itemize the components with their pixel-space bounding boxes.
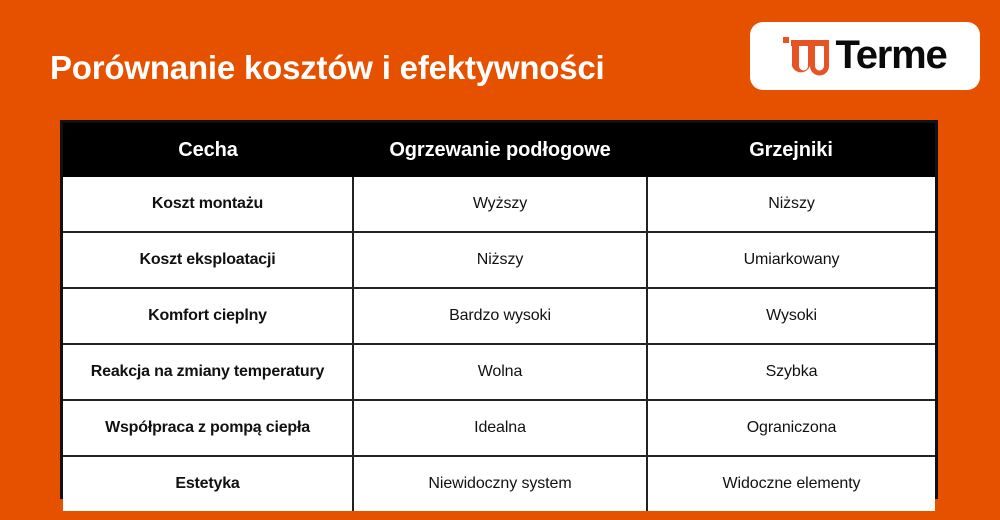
cell-feature: Koszt montażu <box>63 177 353 232</box>
cell-radiators: Widoczne elementy <box>647 456 935 511</box>
comparison-table: Cecha Ogrzewanie podłogowe Grzejniki Kos… <box>63 123 935 511</box>
terme-m-monogram-icon <box>783 37 829 77</box>
cell-underfloor: Niższy <box>353 232 647 288</box>
table-row: Współpraca z pompą ciepła Idealna Ograni… <box>63 400 935 456</box>
column-header-radiators: Grzejniki <box>647 123 935 177</box>
cell-radiators: Niższy <box>647 177 935 232</box>
page-title: Porównanie kosztów i efektywności <box>50 48 605 88</box>
table-row: Estetyka Niewidoczny system Widoczne ele… <box>63 456 935 511</box>
brand-wordmark: Terme <box>835 35 946 75</box>
cell-radiators: Wysoki <box>647 288 935 344</box>
comparison-table-container: Cecha Ogrzewanie podłogowe Grzejniki Kos… <box>60 120 938 499</box>
cell-feature: Współpraca z pompą ciepła <box>63 400 353 456</box>
cell-radiators: Umiarkowany <box>647 232 935 288</box>
cell-feature: Estetyka <box>63 456 353 511</box>
table-row: Komfort cieplny Bardzo wysoki Wysoki <box>63 288 935 344</box>
cell-feature: Koszt eksploatacji <box>63 232 353 288</box>
cell-feature: Reakcja na zmiany temperatury <box>63 344 353 400</box>
cell-underfloor: Wyższy <box>353 177 647 232</box>
brand-logo: Terme <box>750 22 980 90</box>
table-header: Cecha Ogrzewanie podłogowe Grzejniki <box>63 123 935 177</box>
cell-underfloor: Bardzo wysoki <box>353 288 647 344</box>
column-header-feature: Cecha <box>63 123 353 177</box>
cell-feature: Komfort cieplny <box>63 288 353 344</box>
table-row: Reakcja na zmiany temperatury Wolna Szyb… <box>63 344 935 400</box>
cell-underfloor: Niewidoczny system <box>353 456 647 511</box>
page-header: Porównanie kosztów i efektywności Terme <box>0 0 1000 112</box>
cell-radiators: Ograniczona <box>647 400 935 456</box>
cell-radiators: Szybka <box>647 344 935 400</box>
table-header-row: Cecha Ogrzewanie podłogowe Grzejniki <box>63 123 935 177</box>
column-header-underfloor: Ogrzewanie podłogowe <box>353 123 647 177</box>
infographic-page: Porównanie kosztów i efektywności Terme … <box>0 0 1000 520</box>
cell-underfloor: Idealna <box>353 400 647 456</box>
table-body: Koszt montażu Wyższy Niższy Koszt eksplo… <box>63 177 935 511</box>
table-row: Koszt eksploatacji Niższy Umiarkowany <box>63 232 935 288</box>
table-row: Koszt montażu Wyższy Niższy <box>63 177 935 232</box>
cell-underfloor: Wolna <box>353 344 647 400</box>
